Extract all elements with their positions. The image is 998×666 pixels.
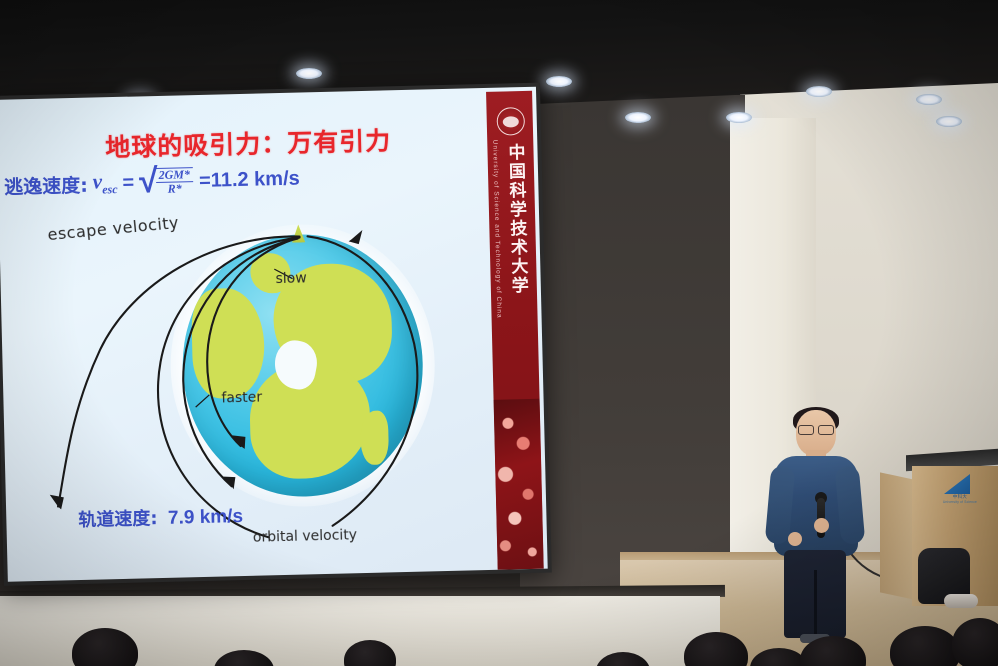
podium-logo-text-en: University of Science	[928, 500, 992, 504]
annotation-slow: slow	[275, 270, 307, 287]
orbital-label-cn: 轨道速度:	[78, 508, 158, 531]
downlight-icon	[726, 112, 752, 123]
arrowhead-faster	[221, 476, 235, 489]
shoe-under-podium	[944, 594, 978, 608]
presenter-hand-right	[814, 518, 829, 533]
audience-head	[952, 618, 998, 666]
orbital-velocity-line: 轨道速度: 7.9 km/s	[78, 502, 243, 532]
dark-wall-panel-secondary	[520, 95, 745, 600]
presenter	[768, 410, 864, 640]
downlight-icon	[916, 94, 942, 105]
plum-blossom-pattern	[494, 399, 544, 570]
presentation-slide: 地球的吸引力：万有引力 逃逸速度: vesc = √ 2GM* R* =11.2…	[0, 87, 548, 582]
annotation-orbital-velocity: orbital velocity	[253, 527, 358, 546]
downlight-icon	[546, 76, 572, 87]
glasses-icon	[798, 425, 834, 433]
podium-side-panel	[880, 472, 914, 599]
downlight-icon	[936, 116, 962, 127]
annotation-faster: faster	[221, 389, 262, 406]
orbital-value: 7.9 km/s	[168, 506, 243, 529]
arrowhead-escape	[50, 494, 64, 509]
ustc-name-cn: 中国科学技术大学	[498, 143, 528, 296]
ustc-emblem-icon	[496, 107, 525, 136]
downlight-icon	[806, 86, 832, 97]
downlight-icon	[625, 112, 651, 123]
presenter-hand-left	[788, 532, 802, 546]
lecture-hall-scene: 地球的吸引力：万有引力 逃逸速度: vesc = √ 2GM* R* =11.2…	[0, 0, 998, 666]
downlight-icon	[296, 68, 322, 79]
presenter-leg-gap	[814, 570, 817, 638]
projection-screen-frame: 地球的吸引力：万有引力 逃逸速度: vesc = √ 2GM* R* =11.2…	[0, 83, 552, 586]
arrowhead-right	[348, 230, 362, 244]
arrowhead-slow	[231, 435, 245, 449]
